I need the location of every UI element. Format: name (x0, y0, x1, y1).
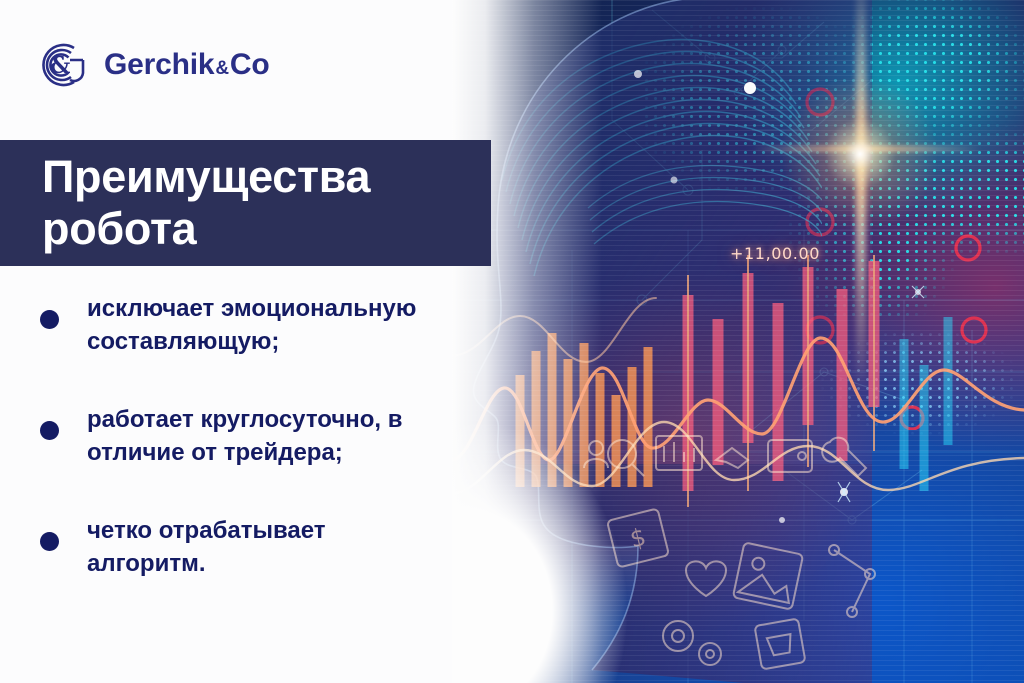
list-item: исключает эмоциональную составляющую; (40, 292, 510, 358)
list-item-label: работает круглосуточно, в отличие от тре… (87, 403, 403, 469)
advantages-list: исключает эмоциональную составляющую; ра… (40, 292, 510, 580)
brand-name: Gerchik (104, 48, 214, 82)
brand-ampersand: & (214, 58, 230, 80)
title-banner: Преимущества робота (0, 140, 491, 266)
brand-logo-text: Gerchik&Co (104, 48, 269, 82)
svg-text:&: & (50, 52, 71, 79)
gerchik-monogram-icon: & (30, 36, 90, 94)
page-title: Преимущества робота (42, 151, 370, 255)
promo-banner: $ (0, 0, 1024, 683)
list-item-label: четко отрабатывает алгоритм. (87, 514, 326, 580)
bullet-dot-icon (40, 310, 59, 329)
artwork-panel: $ (452, 0, 1024, 683)
bullet-dot-icon (40, 421, 59, 440)
price-ticker: +11,00.00 (730, 244, 820, 263)
list-item: работает круглосуточно, в отличие от тре… (40, 403, 510, 469)
brand-logo[interactable]: & Gerchik&Co (30, 36, 269, 94)
list-item-label: исключает эмоциональную составляющую; (87, 292, 416, 358)
brand-suffix: Co (230, 48, 270, 82)
bullet-dot-icon (40, 532, 59, 551)
list-item: четко отрабатывает алгоритм. (40, 514, 510, 580)
